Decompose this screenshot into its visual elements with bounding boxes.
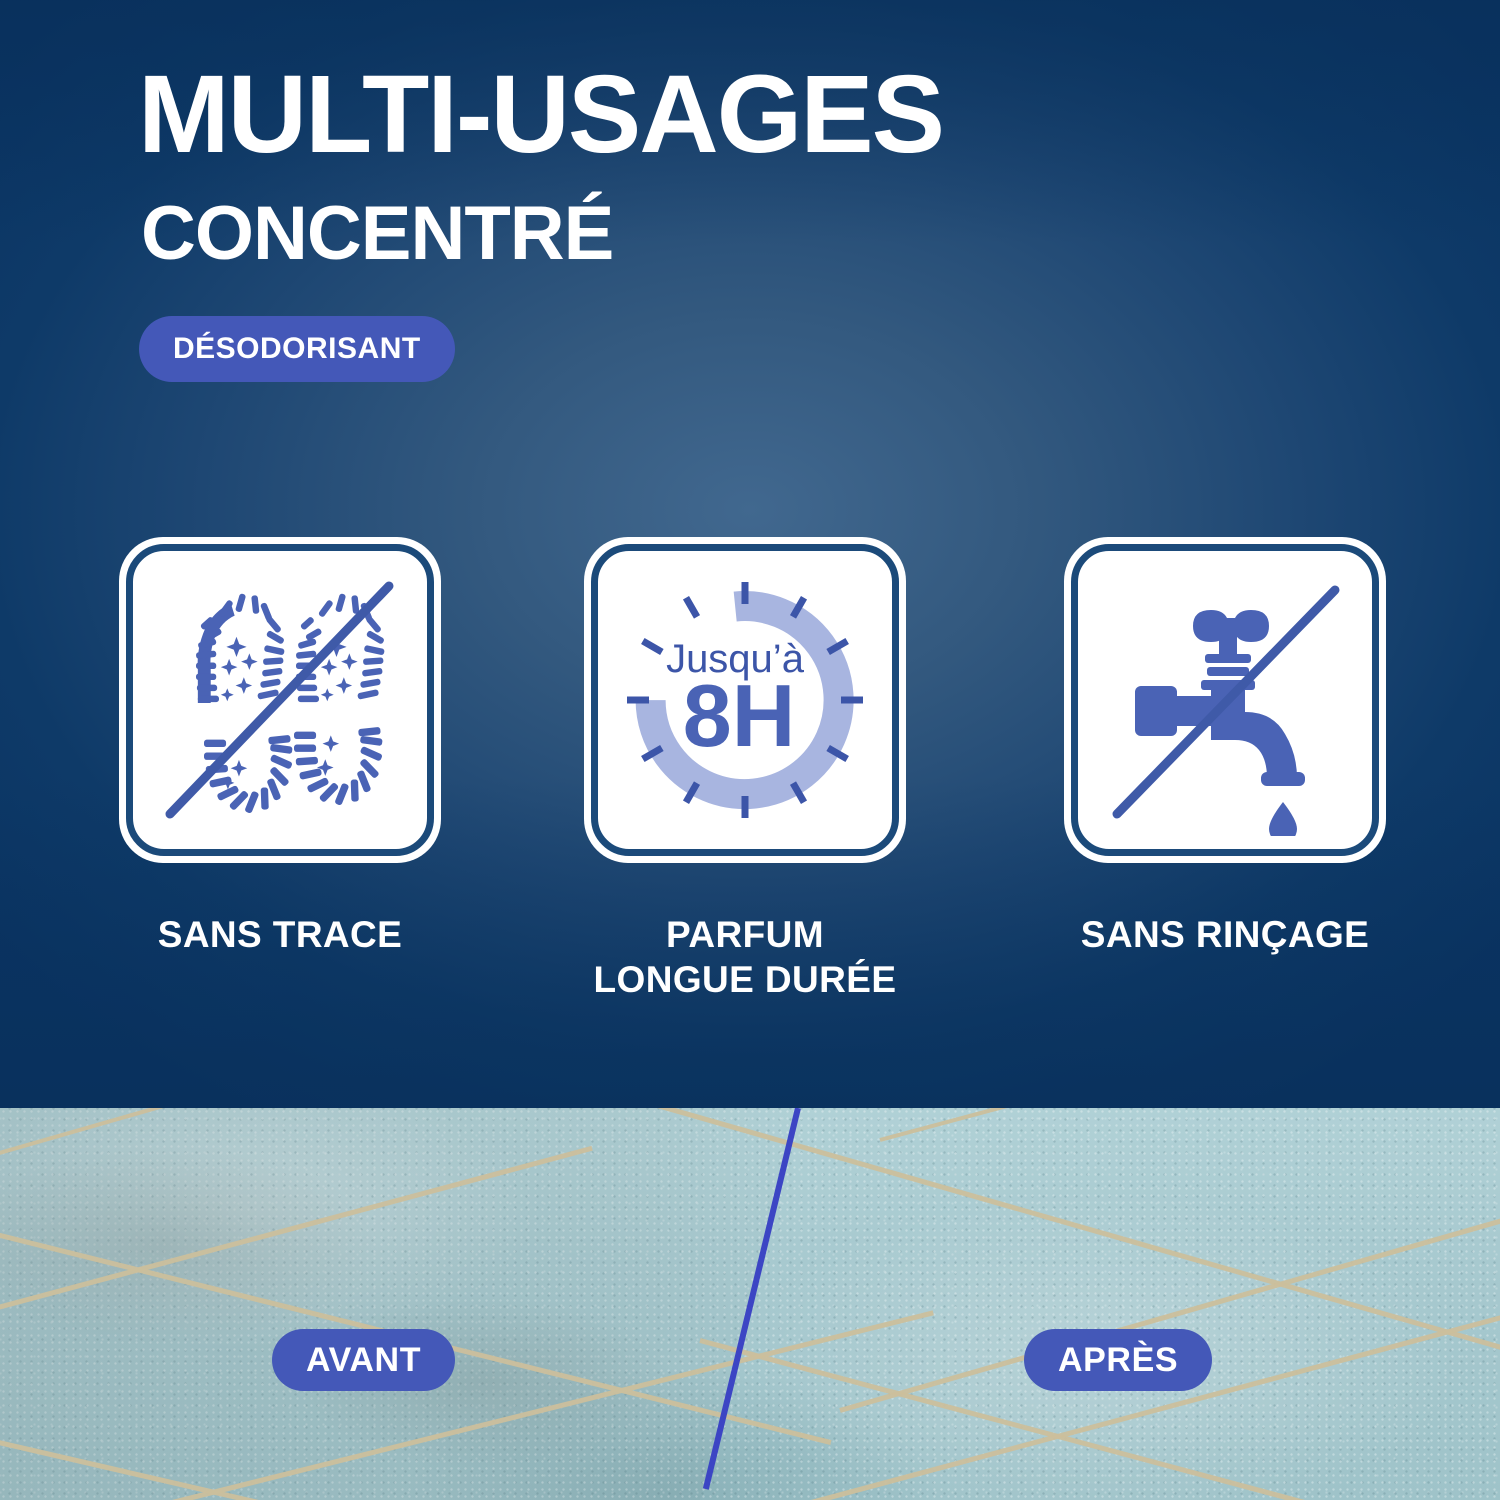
caption-text-line1: PARFUM [525, 912, 965, 957]
feature-card [119, 537, 441, 863]
timer-value-label: 8H [683, 666, 796, 765]
footprints-no-marks-icon [144, 564, 416, 836]
before-after-photo [0, 1108, 1500, 1500]
after-label-badge: APRÈS [1024, 1329, 1212, 1391]
faucet-no-rinse-icon [1089, 564, 1361, 836]
feature-item-sans-rincage [1064, 537, 1386, 863]
feature-card: Jusqu’à 8H [584, 537, 906, 863]
feature-card-inner [1071, 544, 1379, 856]
feature-caption-sans-trace: SANS TRACE [60, 912, 500, 957]
page-subtitle: CONCENTRÉ [141, 196, 613, 272]
before-label-text: AVANT [306, 1341, 421, 1380]
caption-text-line2: LONGUE DURÉE [525, 957, 965, 1002]
caption-text: SANS RINÇAGE [1081, 914, 1370, 955]
feature-caption-parfum-longue-duree: PARFUM LONGUE DURÉE [525, 912, 965, 1002]
feature-card [1064, 537, 1386, 863]
after-label-text: APRÈS [1058, 1341, 1178, 1380]
feature-card-inner: Jusqu’à 8H [591, 544, 899, 856]
feature-item-sans-trace [119, 537, 441, 863]
timer-8h-icon: Jusqu’à 8H [609, 564, 881, 836]
feature-caption-sans-rincage: SANS RINÇAGE [1005, 912, 1445, 957]
before-label-badge: AVANT [272, 1329, 455, 1391]
badge-label: DÉSODORISANT [173, 332, 421, 366]
promo-graphic: MULTI-USAGES CONCENTRÉ DÉSODORISANT [0, 0, 1500, 1500]
feature-card-inner [126, 544, 434, 856]
feature-list: Jusqu’à 8H [0, 537, 1500, 867]
page-title: MULTI-USAGES [138, 60, 943, 170]
status-badge: DÉSODORISANT [139, 316, 455, 382]
caption-text: SANS TRACE [158, 914, 403, 955]
feature-item-parfum-longue-duree: Jusqu’à 8H [584, 537, 906, 863]
